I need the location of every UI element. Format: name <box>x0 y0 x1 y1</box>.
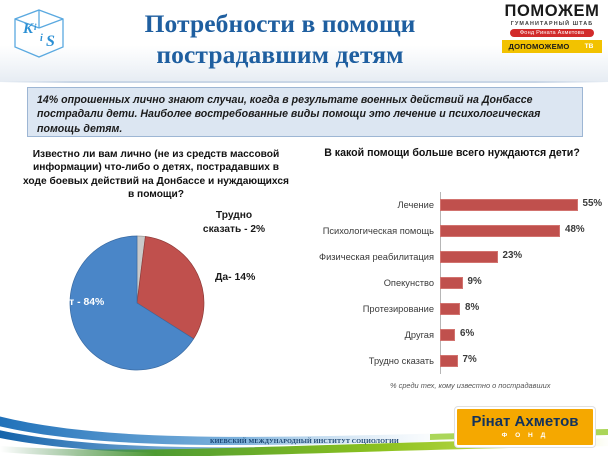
bar-category-label: Физическая реабилитация <box>318 252 440 262</box>
page-title-line2: пострадавшим детям <box>70 39 490 70</box>
bar-fill <box>440 355 458 367</box>
bar-row: Протезирование 8% <box>318 296 593 322</box>
bar-fill <box>440 199 578 211</box>
bar-row: Лечение 55% <box>318 192 593 218</box>
header-divider <box>0 81 608 83</box>
page-title: Потребности в помощи пострадавшим детям <box>70 8 490 70</box>
bar-fill <box>440 225 560 237</box>
page-title-line1: Потребности в помощи <box>70 8 490 39</box>
akhmetov-badge-subtitle: Ф О Н Д <box>457 432 593 439</box>
bar-row: Психологическая помощь 48% <box>318 218 593 244</box>
bar-track: 55% <box>440 192 593 218</box>
pie-chart-title: Известно ли вам лично (не из средств мас… <box>22 148 290 202</box>
svg-text:i: i <box>40 33 43 44</box>
bar-category-label: Трудно сказать <box>318 356 440 366</box>
bar-value-label: 7% <box>463 354 477 365</box>
pomozhem-fund-line: Фонд Рината Ахметова <box>510 29 594 37</box>
dopomozhemo-tv-suffix: ТВ <box>576 40 602 53</box>
bar-track: 9% <box>440 270 593 296</box>
infographic-slide: K i i S Потребности в помощи пострадавши… <box>0 0 608 456</box>
bar-chart: Лечение 55% Психологическая помощь 48% Ф… <box>318 192 593 374</box>
bar-row: Другая 6% <box>318 322 593 348</box>
bar-category-label: Другая <box>318 330 440 340</box>
bar-category-label: Лечение <box>318 200 440 210</box>
kiis-footer-label: КИЕВСКИЙ МЕЖДУНАРОДНЫЙ ИНСТИТУТ СОЦИОЛОГ… <box>210 439 399 445</box>
bar-row: Физическая реабилитация 23% <box>318 244 593 270</box>
svg-text:S: S <box>46 33 55 50</box>
bar-track: 6% <box>440 322 593 348</box>
bar-track: 23% <box>440 244 593 270</box>
akhmetov-badge-name: Рінат Ахметов <box>457 413 593 431</box>
bar-track: 7% <box>440 348 593 374</box>
pie-label-no: Нет - 84% <box>56 297 104 308</box>
pie-label-hard-to-say: Трудно сказать - 2% <box>197 209 271 237</box>
summary-callout-text: 14% опрошенных лично знают случаи, когда… <box>37 93 577 136</box>
bar-chart-title: В какой помощи больше всего нуждаются де… <box>318 146 586 160</box>
bar-fill <box>440 277 463 289</box>
bar-row: Опекунство 9% <box>318 270 593 296</box>
bar-row: Трудно сказать 7% <box>318 348 593 374</box>
bar-value-label: 48% <box>565 224 585 235</box>
bar-value-label: 23% <box>503 250 523 261</box>
bar-category-label: Психологическая помощь <box>318 226 440 236</box>
svg-text:K: K <box>22 21 34 37</box>
bar-fill <box>440 251 498 263</box>
bar-track: 48% <box>440 218 593 244</box>
pomozhem-logo: ПОМОЖЕМ ГУМАНИТАРНЫЙ ШТАБ Фонд Рината Ах… <box>502 2 602 53</box>
bar-value-label: 55% <box>583 198 603 209</box>
bar-value-label: 6% <box>460 328 474 339</box>
pomozhem-subtitle: ГУМАНИТАРНЫЙ ШТАБ <box>502 21 602 27</box>
bar-category-label: Опекунство <box>318 278 440 288</box>
bar-track: 8% <box>440 296 593 322</box>
bar-fill <box>440 303 460 315</box>
dopomozhemo-label: ДОПОМОЖЕМО <box>502 40 576 53</box>
bar-category-label: Протезирование <box>318 304 440 314</box>
bar-fill <box>440 329 455 341</box>
bar-value-label: 9% <box>468 276 482 287</box>
akhmetov-foundation-badge: Рінат Ахметов Ф О Н Д <box>455 407 595 447</box>
pomozhem-wordmark: ПОМОЖЕМ <box>502 2 602 20</box>
pie-label-yes: Да- 14% <box>215 272 255 283</box>
dopomozhemo-tv-bar: ДОПОМОЖЕМО ТВ <box>502 40 602 53</box>
kiis-logo-icon: K i i S <box>8 6 70 62</box>
bar-value-label: 8% <box>465 302 479 313</box>
bar-chart-footnote: % среди тех, кому известно о пострадавши… <box>390 381 550 390</box>
summary-callout-box: 14% опрошенных лично знают случаи, когда… <box>27 87 583 137</box>
